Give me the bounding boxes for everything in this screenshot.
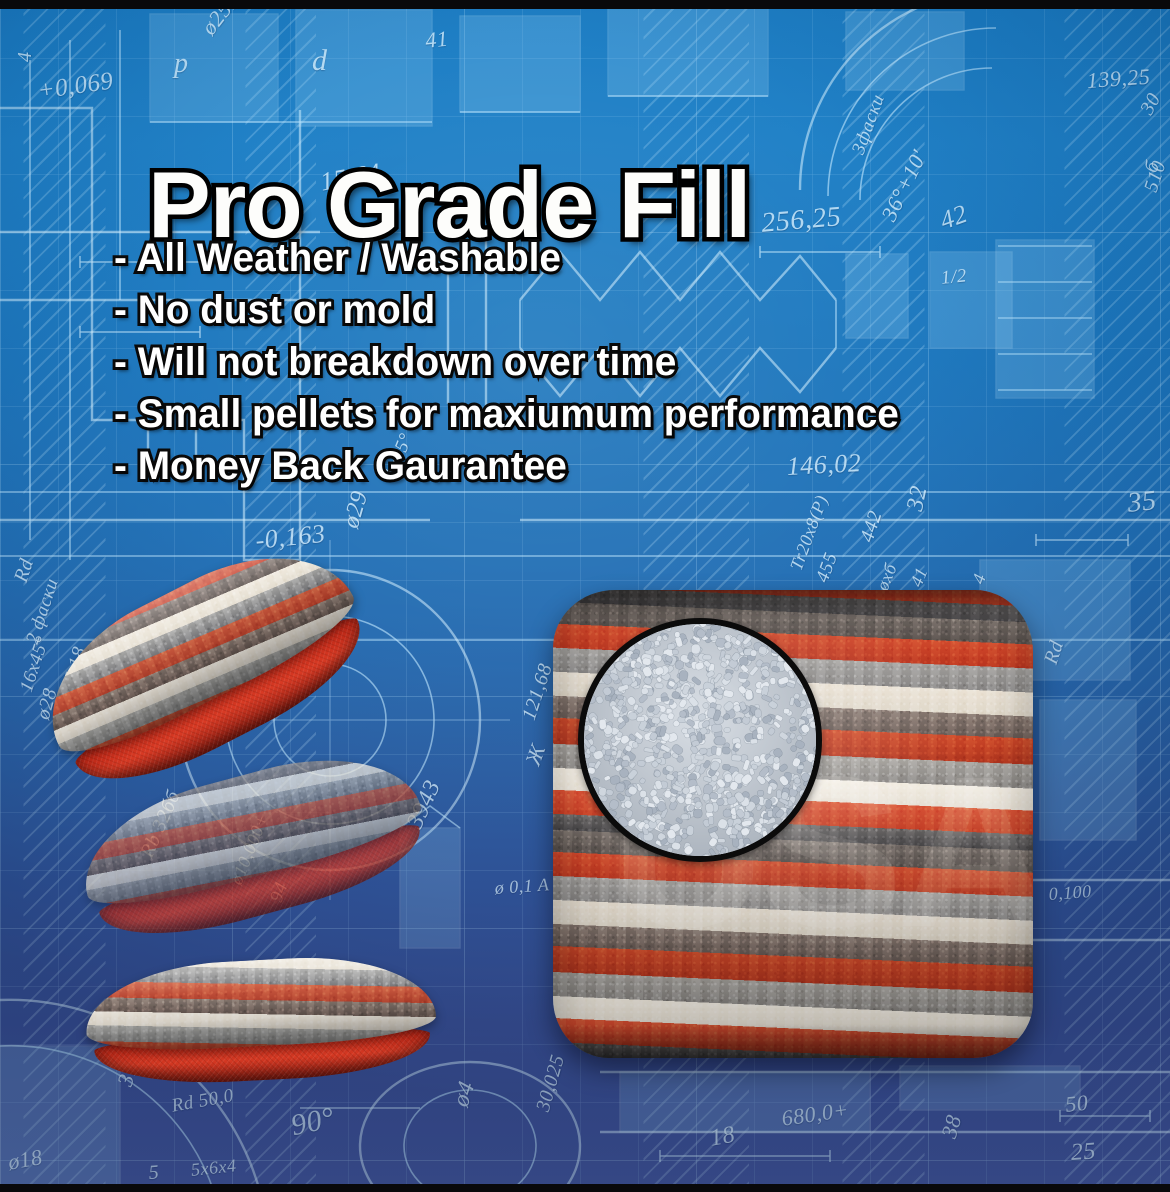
pellet-closeup-circle: [578, 618, 822, 862]
feature-list: - All Weather / Washable - No dust or mo…: [114, 232, 923, 492]
cornhole-bag-edge-bottom: [83, 951, 439, 1089]
pellet-fill-sample: [578, 618, 822, 862]
bag-seam-top: [553, 590, 1033, 618]
feature-item-1: - All Weather / Washable: [114, 232, 899, 284]
feature-item-3: - Will not breakdown over time: [114, 336, 899, 388]
bag-shading: [83, 951, 437, 1056]
feature-item-2: - No dust or mold: [114, 284, 899, 336]
feature-item-4: - Small pellets for maxiumum performance: [114, 388, 899, 440]
letterbox-bar-top: [0, 0, 1170, 9]
product-poster: +0,0694pø25øбd4115,64139,2530б256,2536°+…: [0, 0, 1170, 1192]
bag-seam-bottom: [553, 1024, 1033, 1058]
feature-item-5: - Money Back Gaurantee: [114, 440, 899, 492]
letterbox-bar-bottom: [0, 1184, 1170, 1192]
bag-fabric-top: [83, 951, 437, 1056]
pellet-granules: [578, 618, 822, 862]
